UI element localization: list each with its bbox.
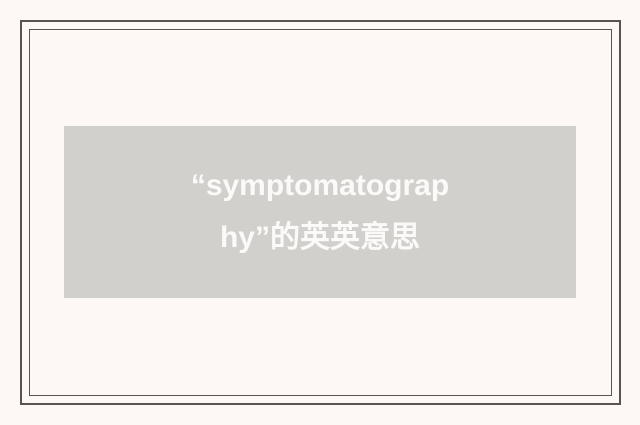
image-placeholder-block: “symptomatography”的英英意思 [64, 126, 576, 298]
screenshot-canvas: “symptomatography”的英英意思 [0, 0, 640, 425]
placeholder-caption-text: “symptomatography”的英英意思 [188, 160, 453, 264]
